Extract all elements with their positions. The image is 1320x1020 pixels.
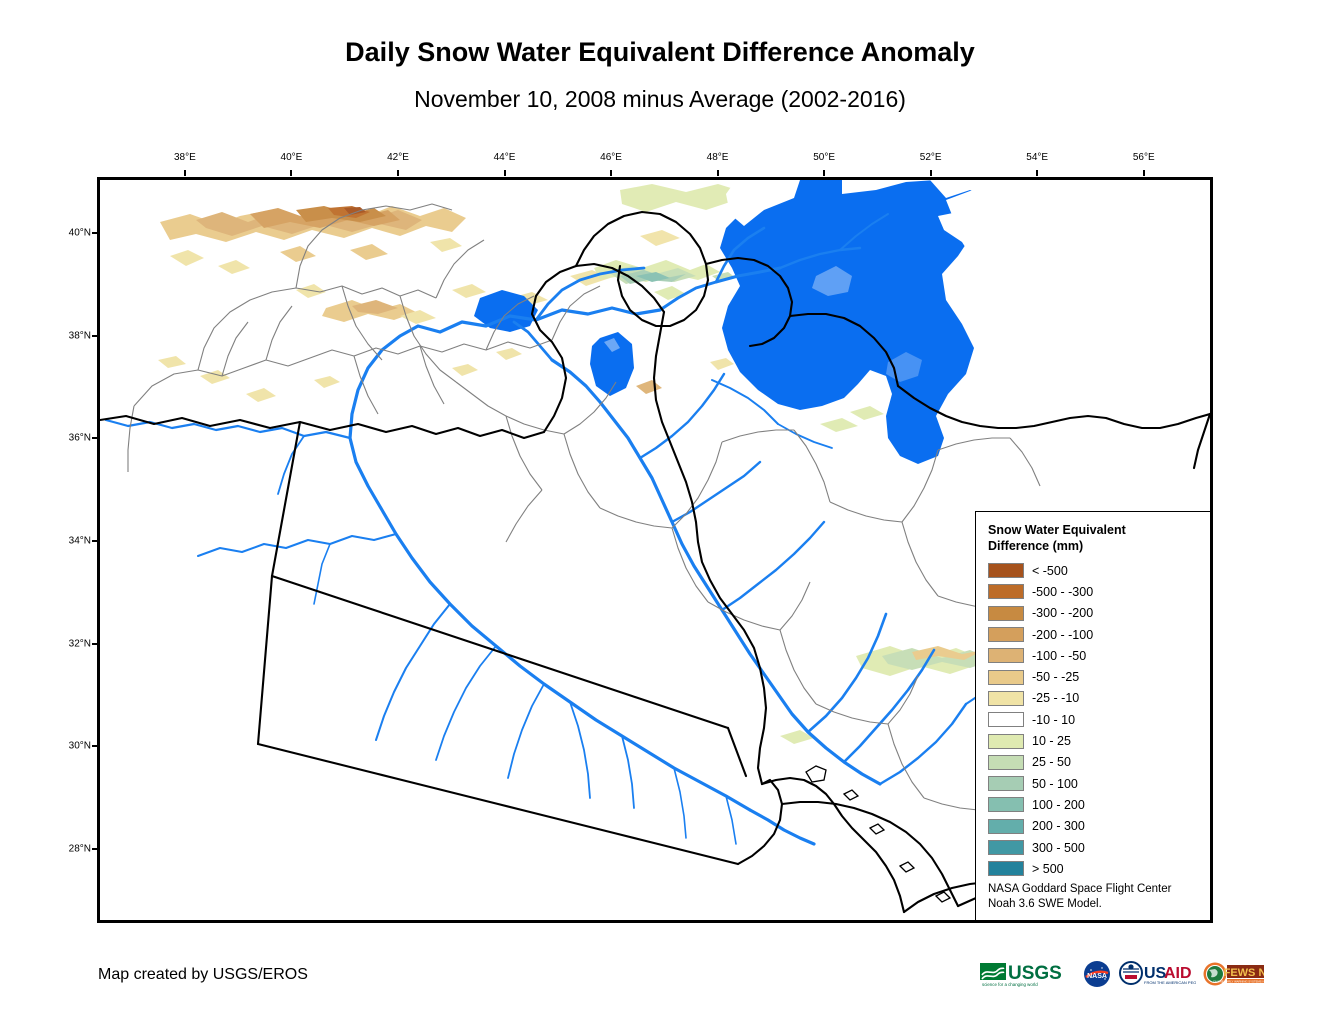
longitude-tick bbox=[397, 170, 399, 176]
longitude-label: 40°E bbox=[281, 152, 303, 163]
legend-swatch bbox=[988, 670, 1024, 685]
longitude-tick bbox=[823, 170, 825, 176]
usgs-logo-icon: USGS science for a changing world bbox=[980, 959, 1076, 989]
longitude-tick bbox=[504, 170, 506, 176]
legend-swatch bbox=[988, 797, 1024, 812]
longitude-tick bbox=[1143, 170, 1145, 176]
usaid-logo-icon: US AID FROM THE AMERICAN PEOPLE bbox=[1118, 959, 1196, 989]
usaid-logo[interactable]: US AID FROM THE AMERICAN PEOPLE bbox=[1118, 959, 1196, 989]
legend-title-line2: Difference (mm) bbox=[988, 539, 1083, 553]
svg-text:FROM THE AMERICAN PEOPLE: FROM THE AMERICAN PEOPLE bbox=[1144, 980, 1196, 985]
legend-swatch bbox=[988, 691, 1024, 706]
latitude-label: 40°N bbox=[49, 228, 91, 239]
longitude-label: 48°E bbox=[707, 152, 729, 163]
latitude-label: 38°N bbox=[49, 330, 91, 341]
legend-label: -300 - -200 bbox=[1032, 606, 1093, 620]
longitude-label: 50°E bbox=[813, 152, 835, 163]
legend-entry[interactable]: -300 - -200 bbox=[988, 603, 1213, 624]
latitude-label: 34°N bbox=[49, 536, 91, 547]
latitude-tick bbox=[92, 643, 99, 645]
legend-entry[interactable]: -200 - -100 bbox=[988, 624, 1213, 645]
legend-entry[interactable]: -25 - -10 bbox=[988, 688, 1213, 709]
latitude-tick bbox=[92, 848, 99, 850]
longitude-tick bbox=[610, 170, 612, 176]
legend-entry[interactable]: -10 - 10 bbox=[988, 709, 1213, 730]
longitude-label: 38°E bbox=[174, 152, 196, 163]
legend-label: -500 - -300 bbox=[1032, 585, 1093, 599]
nasa-logo[interactable]: NASA bbox=[1082, 959, 1112, 989]
legend-label: > 500 bbox=[1032, 862, 1064, 876]
legend-entry[interactable]: -100 - -50 bbox=[988, 645, 1213, 666]
map-credit: Map created by USGS/EROS bbox=[98, 966, 308, 984]
legend-label: 200 - 300 bbox=[1032, 819, 1085, 833]
latitude-tick bbox=[92, 745, 99, 747]
legend-entry[interactable]: < -500 bbox=[988, 560, 1213, 581]
svg-text:NASA: NASA bbox=[1087, 973, 1107, 980]
latitude-label: 32°N bbox=[49, 638, 91, 649]
legend-entry[interactable]: 100 - 200 bbox=[988, 794, 1213, 815]
legend-label: 50 - 100 bbox=[1032, 777, 1078, 791]
svg-text:FAMINE EARLY WARNING SYSTEMS N: FAMINE EARLY WARNING SYSTEMS NETWORK bbox=[1213, 979, 1264, 983]
latitude-label: 28°N bbox=[49, 843, 91, 854]
longitude-tick bbox=[1036, 170, 1038, 176]
usgs-logo[interactable]: USGS science for a changing world bbox=[980, 959, 1076, 989]
map-frame[interactable]: Snow Water Equivalent Difference (mm) < … bbox=[97, 177, 1213, 923]
longitude-label: 56°E bbox=[1133, 152, 1155, 163]
legend-entry[interactable]: 300 - 500 bbox=[988, 837, 1213, 858]
legend-label: -10 - 10 bbox=[1032, 713, 1075, 727]
latitude-tick bbox=[92, 540, 99, 542]
longitude-label: 44°E bbox=[494, 152, 516, 163]
map-legend[interactable]: Snow Water Equivalent Difference (mm) < … bbox=[975, 511, 1213, 923]
longitude-tick bbox=[290, 170, 292, 176]
longitude-label: 42°E bbox=[387, 152, 409, 163]
legend-swatch bbox=[988, 861, 1024, 876]
legend-label: 100 - 200 bbox=[1032, 798, 1085, 812]
legend-entry[interactable]: 25 - 50 bbox=[988, 752, 1213, 773]
legend-label: -25 - -10 bbox=[1032, 691, 1079, 705]
legend-swatch bbox=[988, 627, 1024, 642]
latitude-tick bbox=[92, 437, 99, 439]
page-title: Daily Snow Water Equivalent Difference A… bbox=[0, 36, 1320, 68]
legend-label: 25 - 50 bbox=[1032, 755, 1071, 769]
latitude-tick bbox=[92, 232, 99, 234]
fewsnet-logo[interactable]: FEWS N FAMINE EARLY WARNING SYSTEMS NETW… bbox=[1202, 959, 1264, 989]
legend-swatch bbox=[988, 819, 1024, 834]
legend-swatch bbox=[988, 584, 1024, 599]
legend-entry[interactable]: > 500 bbox=[988, 858, 1213, 879]
fewsnet-logo-icon: FEWS N FAMINE EARLY WARNING SYSTEMS NETW… bbox=[1202, 959, 1264, 989]
legend-source-note: NASA Goddard Space Flight Center Noah 3.… bbox=[988, 882, 1171, 912]
svg-text:FEWS N: FEWS N bbox=[1224, 967, 1264, 979]
legend-label: 10 - 25 bbox=[1032, 734, 1071, 748]
legend-swatch bbox=[988, 755, 1024, 770]
legend-entry[interactable]: -500 - -300 bbox=[988, 581, 1213, 602]
longitude-label: 52°E bbox=[920, 152, 942, 163]
legend-entry[interactable]: 50 - 100 bbox=[988, 773, 1213, 794]
svg-text:science for a changing world: science for a changing world bbox=[982, 982, 1038, 987]
longitude-tick bbox=[930, 170, 932, 176]
title-block: Daily Snow Water Equivalent Difference A… bbox=[0, 36, 1320, 113]
page-subtitle: November 10, 2008 minus Average (2002-20… bbox=[0, 86, 1320, 113]
legend-swatch bbox=[988, 840, 1024, 855]
legend-entry[interactable]: 200 - 300 bbox=[988, 816, 1213, 837]
longitude-label: 54°E bbox=[1026, 152, 1048, 163]
legend-label: -50 - -25 bbox=[1032, 670, 1079, 684]
logo-strip: USGS science for a changing world NASA U… bbox=[980, 958, 1264, 990]
legend-label: 300 - 500 bbox=[1032, 841, 1085, 855]
legend-swatch bbox=[988, 648, 1024, 663]
nasa-logo-icon: NASA bbox=[1082, 959, 1112, 989]
legend-title: Snow Water Equivalent Difference (mm) bbox=[988, 522, 1188, 554]
legend-swatch bbox=[988, 606, 1024, 621]
legend-swatch bbox=[988, 734, 1024, 749]
legend-title-line1: Snow Water Equivalent bbox=[988, 523, 1126, 537]
legend-entry[interactable]: 10 - 25 bbox=[988, 730, 1213, 751]
legend-entry[interactable]: -50 - -25 bbox=[988, 666, 1213, 687]
legend-swatch bbox=[988, 776, 1024, 791]
legend-entry-list: < -500-500 - -300-300 - -200-200 - -100-… bbox=[988, 560, 1213, 879]
legend-label: -100 - -50 bbox=[1032, 649, 1086, 663]
longitude-tick bbox=[184, 170, 186, 176]
longitude-tick bbox=[717, 170, 719, 176]
legend-swatch bbox=[988, 563, 1024, 578]
legend-swatch bbox=[988, 712, 1024, 727]
latitude-tick bbox=[92, 335, 99, 337]
svg-text:USGS: USGS bbox=[1008, 963, 1062, 984]
latitude-label: 30°N bbox=[49, 741, 91, 752]
legend-label: -200 - -100 bbox=[1032, 628, 1093, 642]
latitude-label: 36°N bbox=[49, 433, 91, 444]
longitude-label: 46°E bbox=[600, 152, 622, 163]
legend-label: < -500 bbox=[1032, 564, 1068, 578]
